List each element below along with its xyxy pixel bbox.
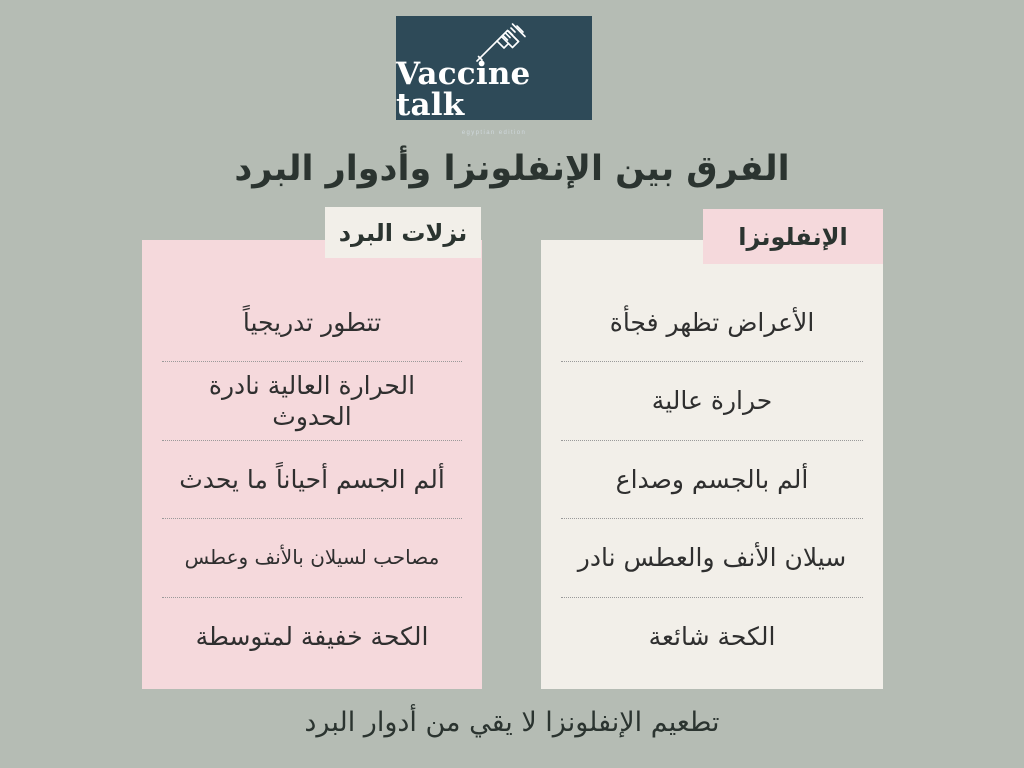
column-rows-flu: الأعراض تظهر فجأة حرارة عالية ألم بالجسم… bbox=[541, 240, 883, 689]
column-rows-cold: تتطور تدريجياً الحرارة العالية نادرة الح… bbox=[142, 240, 482, 689]
column-card-flu: الأعراض تظهر فجأة حرارة عالية ألم بالجسم… bbox=[541, 240, 883, 689]
infographic-poster: Vaccine talk Egyptian edition الفرق بين … bbox=[0, 0, 1024, 768]
list-item: سيلان الأنف والعطس نادر bbox=[561, 518, 863, 596]
list-item: حرارة عالية bbox=[561, 361, 863, 439]
logo-wordmark: Vaccine talk bbox=[396, 59, 592, 121]
list-item: الكحة شائعة bbox=[561, 597, 863, 675]
page-title: الفرق بين الإنفلونزا وأدوار البرد bbox=[0, 149, 1024, 189]
list-item: مصاحب لسيلان بالأنف وعطس bbox=[162, 518, 462, 596]
column-card-cold: تتطور تدريجياً الحرارة العالية نادرة الح… bbox=[142, 240, 482, 689]
logo-subtitle: Egyptian edition bbox=[462, 130, 526, 136]
list-item: ألم الجسم أحياناً ما يحدث bbox=[162, 440, 462, 518]
column-header-flu: الإنفلونزا bbox=[703, 209, 883, 264]
list-item: تتطور تدريجياً bbox=[162, 284, 462, 361]
list-item: ألم بالجسم وصداع bbox=[561, 440, 863, 518]
list-item: الكحة خفيفة لمتوسطة bbox=[162, 597, 462, 675]
brand-logo-panel: Vaccine talk Egyptian edition bbox=[396, 16, 592, 120]
footer-caption: تطعيم الإنفلونزا لا يقي من أدوار البرد bbox=[0, 707, 1024, 738]
list-item: الأعراض تظهر فجأة bbox=[561, 284, 863, 361]
column-header-cold: نزلات البرد bbox=[325, 207, 481, 258]
list-item: الحرارة العالية نادرة الحدوث bbox=[162, 361, 462, 439]
